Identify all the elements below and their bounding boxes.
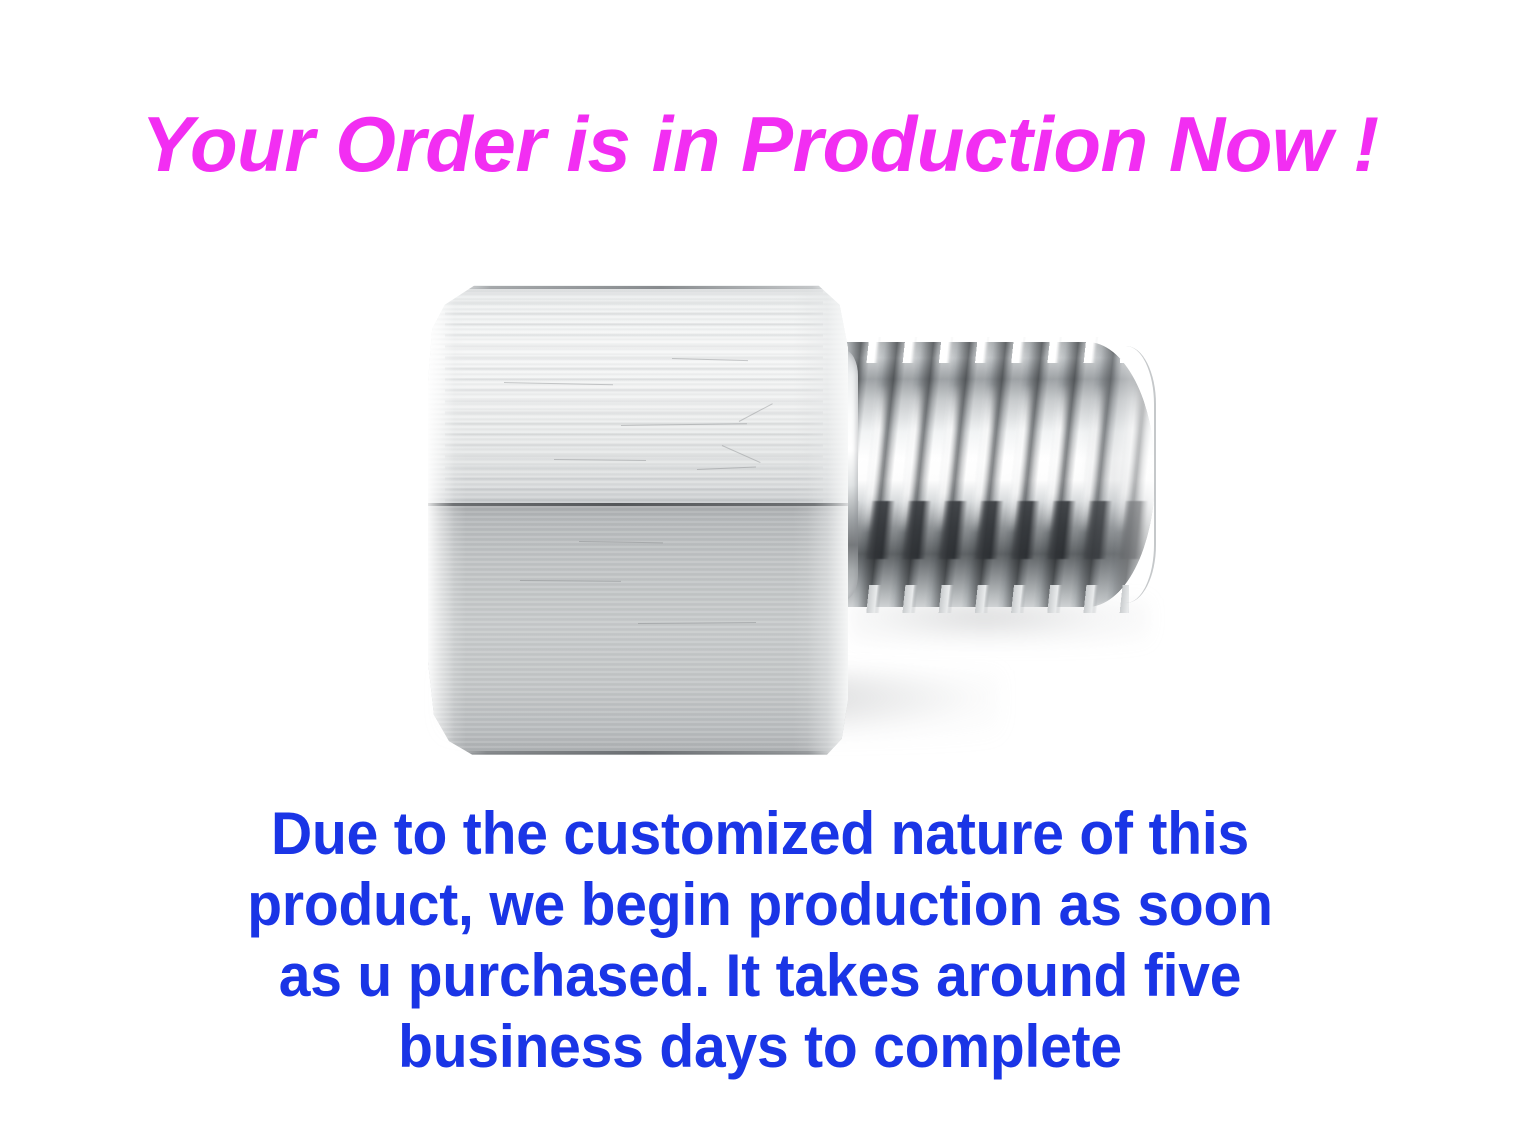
hex-surface-scratches [428, 276, 848, 758]
hex-top-edge [453, 286, 831, 289]
threaded-male-end [835, 342, 1155, 607]
hex-left-chamfer [428, 276, 466, 758]
promo-image-canvas: Your Order is in Production Now ! [0, 0, 1520, 1140]
production-notice: Due to the customized nature of this pro… [0, 798, 1520, 1082]
hex-right-chamfer [793, 276, 848, 758]
notice-line: business days to complete [38, 1011, 1482, 1082]
notice-line: as u purchased. It takes around five [38, 940, 1482, 1011]
notice-line: product, we begin production as soon [38, 869, 1482, 940]
hex-facet-edge [428, 503, 848, 506]
thread-end-cap-edge [1126, 346, 1156, 603]
thread-body-surface [835, 342, 1155, 607]
product-photo [380, 230, 1200, 770]
hex-body [428, 276, 848, 758]
thread-crests-top [833, 337, 1129, 363]
page-title: Your Order is in Production Now ! [0, 96, 1520, 192]
thread-crests-bottom [833, 585, 1129, 613]
notice-line: Due to the customized nature of this [38, 798, 1482, 869]
hex-bottom-edge [457, 751, 831, 755]
